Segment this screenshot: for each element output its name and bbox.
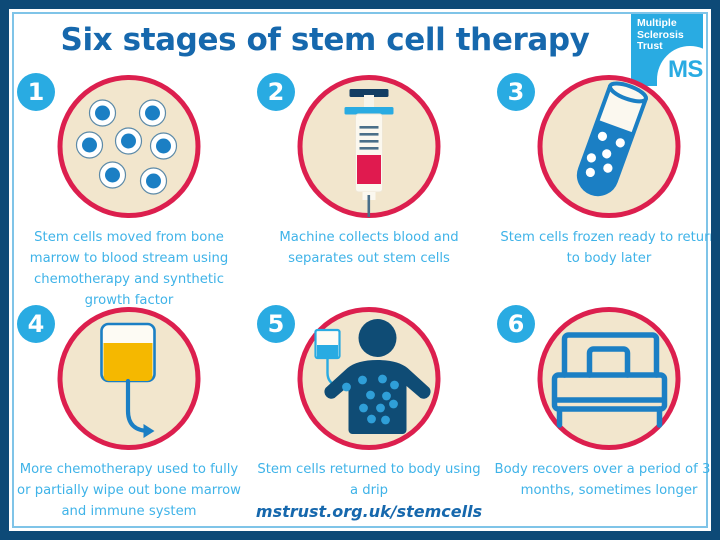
stage-caption-2: Machine collects blood and separates out… (253, 227, 485, 269)
stage-number-badge-6: 6 (497, 305, 535, 343)
petri-dish-stem-cells-icon (58, 75, 201, 218)
stage-number-badge-2: 2 (257, 73, 295, 111)
page-title: Six stages of stem cell therapy (9, 22, 641, 58)
stage-number-badge-1: 1 (17, 73, 55, 111)
syringe-icon (298, 75, 441, 218)
logo-abbreviation: MS (668, 56, 703, 84)
stage-caption-6: Body recovers over a period of 3-6 month… (493, 459, 720, 501)
infographic-poster: Six stages of stem cell therapy Multiple… (0, 0, 720, 540)
iv-bag-chemotherapy-icon (58, 307, 201, 450)
footer-url[interactable]: mstrust.org.uk/stemcells (9, 502, 720, 521)
bed-icon (538, 307, 681, 450)
logo-organisation-name: Multiple Sclerosis Trust (637, 18, 684, 53)
stage-caption-5: Stem cells returned to body using a drip (253, 459, 485, 501)
patient-with-drip-icon (298, 307, 441, 450)
stage-caption-1: Stem cells moved from bone marrow to blo… (13, 227, 245, 311)
stage-number-badge-5: 5 (257, 305, 295, 343)
test-tube-icon (538, 75, 681, 218)
stage-number-badge-4: 4 (17, 305, 55, 343)
stage-number-badge-3: 3 (497, 73, 535, 111)
stage-caption-3: Stem cells frozen ready to return to bod… (493, 227, 720, 269)
